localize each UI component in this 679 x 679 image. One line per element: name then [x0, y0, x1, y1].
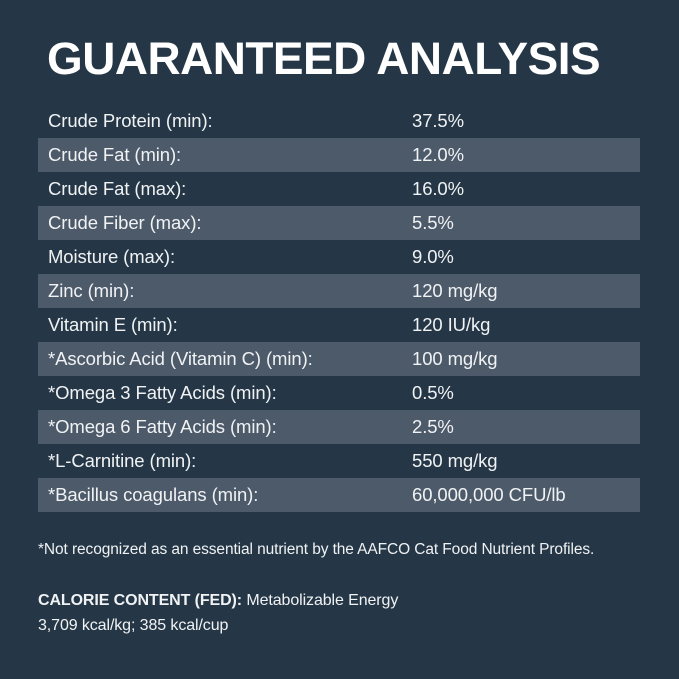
table-row: Crude Fat (min):12.0% — [38, 138, 640, 172]
nutrient-value: 16.0% — [412, 178, 464, 200]
guaranteed-analysis-panel: GUARANTEED ANALYSIS Crude Protein (min):… — [0, 0, 679, 679]
nutrient-value: 120 IU/kg — [412, 314, 490, 336]
table-row: *Ascorbic Acid (Vitamin C) (min):100 mg/… — [38, 342, 640, 376]
nutrient-name: *Omega 6 Fatty Acids (min): — [48, 416, 277, 438]
nutrient-value: 100 mg/kg — [412, 348, 498, 370]
calorie-content-heading-suffix: Metabolizable Energy — [242, 592, 398, 609]
nutrient-value: 12.0% — [412, 144, 464, 166]
table-row: *Omega 3 Fatty Acids (min):0.5% — [38, 376, 640, 410]
calorie-content-block: CALORIE CONTENT (FED): Metabolizable Ene… — [38, 588, 398, 638]
nutrient-name: *Ascorbic Acid (Vitamin C) (min): — [48, 348, 313, 370]
guaranteed-analysis-table: Crude Protein (min):37.5%Crude Fat (min)… — [38, 104, 640, 512]
table-row: Vitamin E (min):120 IU/kg — [38, 308, 640, 342]
table-row: Moisture (max):9.0% — [38, 240, 640, 274]
nutrient-name: Crude Protein (min): — [48, 110, 213, 132]
nutrient-value: 5.5% — [412, 212, 454, 234]
nutrient-value: 550 mg/kg — [412, 450, 498, 472]
table-row: Crude Fiber (max):5.5% — [38, 206, 640, 240]
page-title: GUARANTEED ANALYSIS — [47, 36, 600, 81]
nutrient-value: 37.5% — [412, 110, 464, 132]
nutrient-name: Crude Fat (max): — [48, 178, 186, 200]
nutrient-name: Crude Fat (min): — [48, 144, 181, 166]
nutrient-name: *Bacillus coagulans (min): — [48, 484, 258, 506]
nutrient-name: Crude Fiber (max): — [48, 212, 201, 234]
footnote: *Not recognized as an essential nutrient… — [38, 541, 594, 559]
nutrient-name: Moisture (max): — [48, 246, 175, 268]
calorie-content-heading: CALORIE CONTENT (FED): — [38, 592, 242, 609]
table-row: *Omega 6 Fatty Acids (min):2.5% — [38, 410, 640, 444]
nutrient-value: 2.5% — [412, 416, 454, 438]
calorie-content-detail: 3,709 kcal/kg; 385 kcal/cup — [38, 613, 398, 638]
nutrient-name: Zinc (min): — [48, 280, 134, 302]
table-row: Zinc (min):120 mg/kg — [38, 274, 640, 308]
table-row: Crude Fat (max):16.0% — [38, 172, 640, 206]
nutrient-name: Vitamin E (min): — [48, 314, 178, 336]
calorie-content-heading-line: CALORIE CONTENT (FED): Metabolizable Ene… — [38, 588, 398, 613]
nutrient-name: *L-Carnitine (min): — [48, 450, 196, 472]
nutrient-value: 60,000,000 CFU/lb — [412, 484, 566, 506]
table-row: *L-Carnitine (min):550 mg/kg — [38, 444, 640, 478]
nutrient-value: 9.0% — [412, 246, 454, 268]
table-row: *Bacillus coagulans (min):60,000,000 CFU… — [38, 478, 640, 512]
nutrient-name: *Omega 3 Fatty Acids (min): — [48, 382, 277, 404]
table-row: Crude Protein (min):37.5% — [38, 104, 640, 138]
nutrient-value: 120 mg/kg — [412, 280, 498, 302]
nutrient-value: 0.5% — [412, 382, 454, 404]
